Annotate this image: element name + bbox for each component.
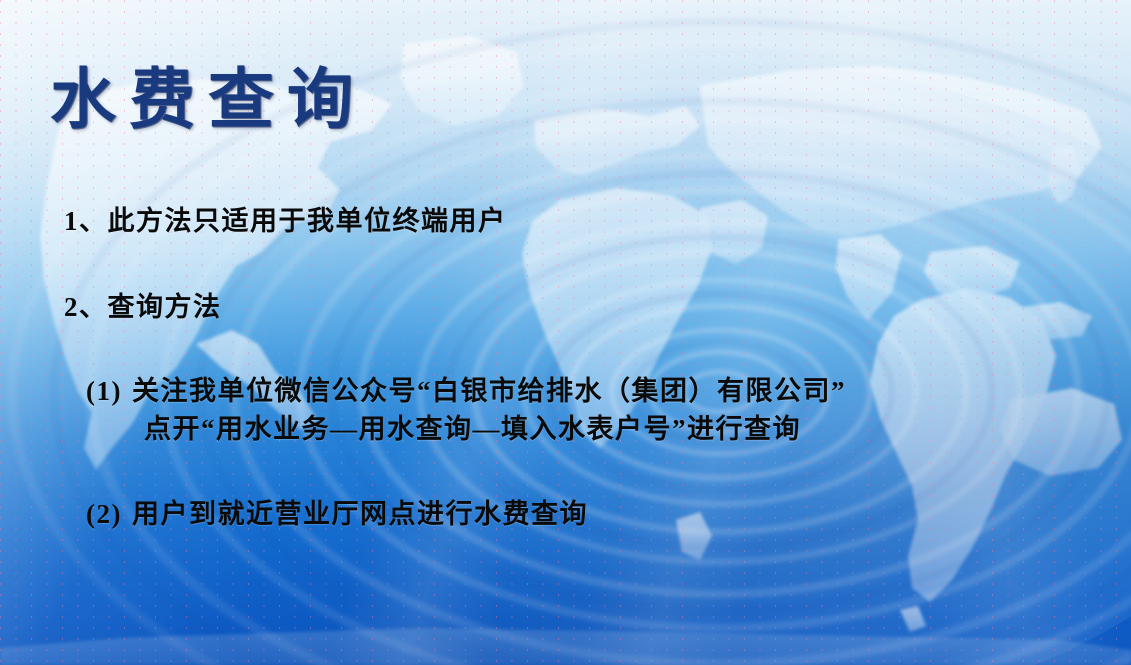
list-item-2-sub-1-second-line: 点开“用水业务—用水查询—填入水表户号”进行查询 <box>144 410 846 448</box>
page-title: 水费查询 <box>50 68 366 134</box>
list-item-2-sub-2-marker: (2) <box>86 499 122 529</box>
slide-content: 水费查询 1、此方法只适用于我单位终端用户 2、查询方法 (1)关注我单位微信公… <box>0 0 1131 665</box>
list-item-2-sub-2: (2)用户到就近营业厅网点进行水费查询 <box>86 495 588 533</box>
list-item-2-marker: 2、 <box>64 292 108 322</box>
list-item-2-sub-1-text: 关注我单位微信公众号“白银市给排水（集团）有限公司” <box>132 376 846 406</box>
list-item-2-sub-2-text: 用户到就近营业厅网点进行水费查询 <box>132 499 588 529</box>
list-item-1: 1、此方法只适用于我单位终端用户 <box>64 202 507 240</box>
list-item-1-text: 此方法只适用于我单位终端用户 <box>108 206 507 236</box>
list-item-2: 2、查询方法 <box>64 288 222 326</box>
list-item-2-sub-1: (1)关注我单位微信公众号“白银市给排水（集团）有限公司” 点开“用水业务—用水… <box>86 372 846 448</box>
list-item-2-text: 查询方法 <box>108 292 222 322</box>
list-item-2-sub-1-first-line: (1)关注我单位微信公众号“白银市给排水（集团）有限公司” <box>86 372 846 410</box>
list-item-2-sub-1-marker: (1) <box>86 376 122 406</box>
slide-canvas: 水费查询 1、此方法只适用于我单位终端用户 2、查询方法 (1)关注我单位微信公… <box>0 0 1131 665</box>
list-item-1-marker: 1、 <box>64 206 108 236</box>
